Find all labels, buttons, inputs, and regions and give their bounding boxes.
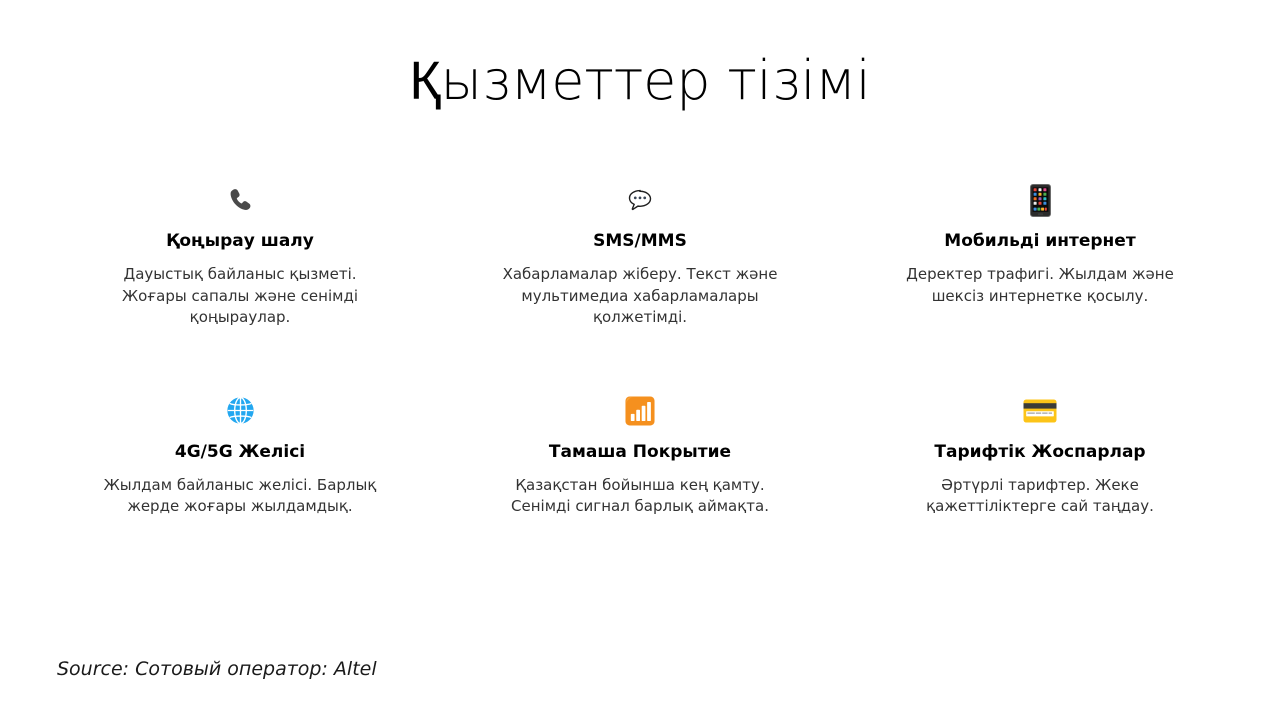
source-value: Сотовый оператор: Altel bbox=[135, 658, 377, 680]
service-description: Дауыстық байланыс қызметі. Жоғары сапалы… bbox=[95, 264, 385, 329]
service-title: 4G/5G Желісі bbox=[175, 441, 305, 463]
service-card-call[interactable]: Қоңырау шалу Дауыстық байланыс қызметі. … bbox=[40, 178, 440, 329]
service-description: Хабарламалар жіберу. Текст және мультиме… bbox=[495, 264, 785, 329]
service-card-tariff-plans[interactable]: Тарифтік Жоспарлар Әртүрлі тарифтер. Жек… bbox=[840, 389, 1240, 518]
service-card-sms-mms[interactable]: SMS/MMS Хабарламалар жіберу. Текст және … bbox=[440, 178, 840, 329]
mobile-phone-icon bbox=[1030, 178, 1051, 222]
service-card-mobile-internet[interactable]: Мобильді интернет Деректер трафигі. Жылд… bbox=[840, 178, 1240, 329]
service-title: SMS/MMS bbox=[593, 230, 687, 252]
service-description: Әртүрлі тарифтер. Жеке қажеттіліктерге с… bbox=[895, 475, 1185, 518]
service-title: Мобильді интернет bbox=[944, 230, 1135, 252]
service-description: Жылдам байланыс желісі. Барлық жерде жоғ… bbox=[95, 475, 385, 518]
services-grid: Қоңырау шалу Дауыстық байланыс қызметі. … bbox=[40, 178, 1240, 518]
service-title: Тамаша Покрытие bbox=[549, 441, 731, 463]
service-card-coverage[interactable]: Тамаша Покрытие Қазақстан бойынша кең қа… bbox=[440, 389, 840, 518]
service-card-4g-5g-network[interactable]: 4G/5G Желісі Жылдам байланыс желісі. Бар… bbox=[40, 389, 440, 518]
source-note: Source: Сотовый оператор: Altel bbox=[57, 655, 377, 683]
service-title: Қоңырау шалу bbox=[166, 230, 314, 252]
bar-chart-icon bbox=[625, 389, 655, 433]
slide-canvas: Қызметтер тізімі Қоңырау шалу Дауыстық б… bbox=[0, 0, 1280, 720]
speech-balloon-icon bbox=[625, 178, 655, 222]
service-description: Деректер трафигі. Жылдам және шексіз инт… bbox=[895, 264, 1185, 307]
globe-with-meridians-icon bbox=[226, 389, 255, 433]
telephone-receiver-icon bbox=[226, 178, 254, 222]
service-description: Қазақстан бойынша кең қамту. Сенімді сиг… bbox=[495, 475, 785, 518]
source-label: Source: bbox=[57, 658, 129, 680]
service-title: Тарифтік Жоспарлар bbox=[934, 441, 1145, 463]
credit-card-icon bbox=[1023, 389, 1057, 433]
page-title: Қызметтер тізімі bbox=[0, 48, 1280, 114]
